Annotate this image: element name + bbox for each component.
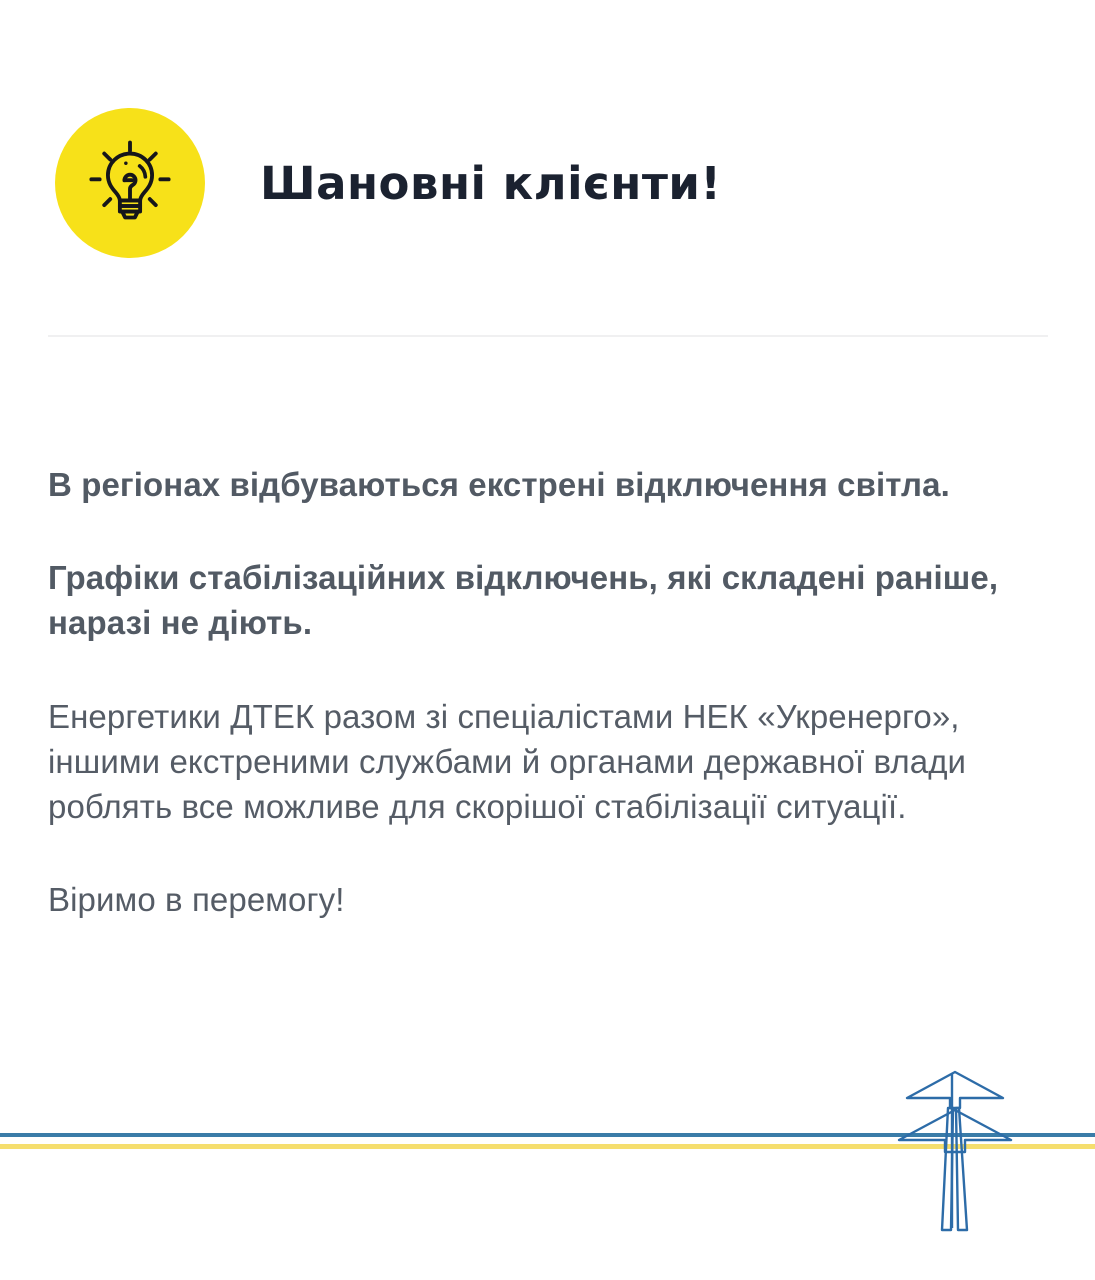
paragraph-belief-in-victory: Віримо в перемогу! bbox=[48, 877, 1053, 922]
notice-header: Шановні клієнти! bbox=[55, 108, 721, 258]
paragraph-dtek-efforts: Енергетики ДТЕК разом зі спеціалістами Н… bbox=[48, 694, 1053, 830]
notice-body: В регіонах відбуваються екстрені відключ… bbox=[48, 462, 1053, 922]
paragraph-emergency-outages: В регіонах відбуваються екстрені відключ… bbox=[48, 462, 1053, 507]
page-title: Шановні клієнти! bbox=[260, 157, 721, 210]
lightbulb-icon bbox=[84, 137, 176, 229]
header-divider bbox=[48, 335, 1048, 337]
paragraph-schedules-not-active: Графіки стабілізаційних відключень, які … bbox=[48, 555, 1053, 645]
power-transmission-tower-icon bbox=[885, 1068, 1025, 1233]
lightbulb-badge bbox=[55, 108, 205, 258]
